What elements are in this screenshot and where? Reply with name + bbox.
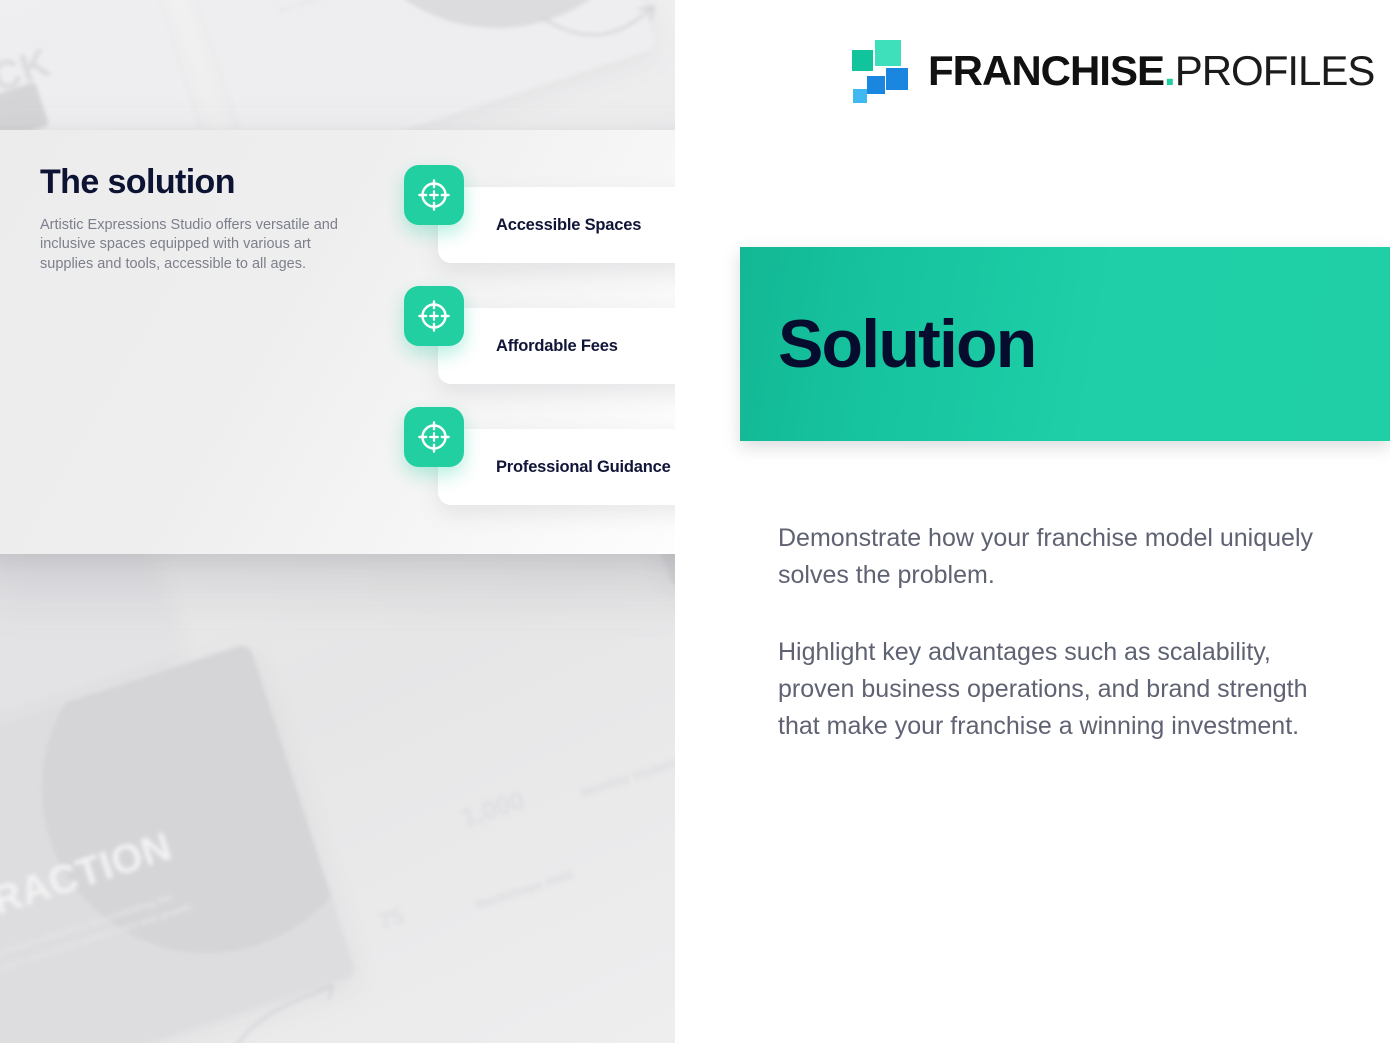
brand-name-dot: . [1164, 47, 1175, 94]
description-paragraph-1: Demonstrate how your franchise model uni… [778, 520, 1323, 594]
page-title: Solution [740, 305, 1036, 383]
feature-label-1: Affordable Fees [438, 337, 618, 356]
bg-slide-traction [0, 643, 357, 1043]
franchise-profiles-logo-mark [852, 40, 908, 102]
brand-name-bold: FRANCHISE [928, 47, 1164, 94]
feature-card-1[interactable]: Affordable Fees [438, 308, 675, 384]
brand-name-light: PROFILES [1175, 47, 1375, 94]
feature-card-2[interactable]: Professional Guidance [438, 429, 675, 505]
target-crosshair-icon [404, 407, 464, 467]
section-banner: Solution [740, 247, 1390, 441]
bg-label-workshops-held: Workshops Held [473, 852, 621, 914]
bg-number-visitors: 1,000 [457, 784, 528, 834]
bg-number-workshops: 75 [376, 903, 407, 935]
solution-card-subtext: Artistic Expressions Studio offers versa… [40, 216, 358, 274]
brand-logo-text: FRANCHISE.PROFILES [928, 50, 1374, 92]
brand-logo[interactable]: FRANCHISE.PROFILES [852, 40, 1374, 102]
bg-label-monthly-visitors: Monthly Visitors [579, 739, 675, 801]
left-preview-panel: pitch deck THE PROBLEM Many individuals … [0, 0, 675, 1043]
feature-label-0: Accessible Spaces [438, 216, 641, 235]
feature-card-0[interactable]: Accessible Spaces [438, 187, 675, 263]
feature-label-2: Professional Guidance [438, 458, 671, 477]
target-crosshair-icon [404, 286, 464, 346]
description-paragraph-2: Highlight key advantages such as scalabi… [778, 634, 1323, 745]
target-crosshair-icon [404, 165, 464, 225]
right-content-panel: FRANCHISE.PROFILES Solution Demonstrate … [675, 0, 1390, 1043]
solution-card-heading: The solution [40, 163, 235, 202]
